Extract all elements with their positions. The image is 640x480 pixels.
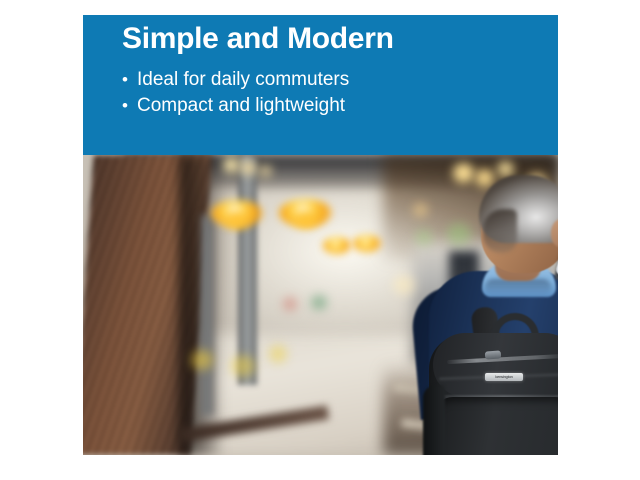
- backpack-top-panel: [433, 333, 558, 397]
- bullet-item: • Compact and lightweight: [122, 93, 349, 119]
- backpack-side-panel: [423, 385, 445, 455]
- bullet-label: Ideal for daily commuters: [134, 67, 349, 93]
- station-pole: [201, 215, 213, 415]
- bokeh-light: [191, 350, 213, 370]
- bullet-item: • Ideal for daily commuters: [122, 67, 349, 93]
- backpack-front-pocket: [433, 397, 558, 455]
- bullet-dot-icon: •: [122, 93, 134, 119]
- backpack-brand-logo: kensington: [485, 373, 523, 381]
- banner-title: Simple and Modern: [122, 20, 394, 58]
- person-figure: kensington: [233, 175, 513, 455]
- backpack-zipper-pull: [485, 350, 502, 359]
- product-feature-banner: Simple and Modern • Ideal for daily comm…: [0, 0, 640, 480]
- hair-temple: [483, 209, 517, 253]
- collar-shadow: [485, 279, 551, 295]
- bokeh-light: [223, 157, 240, 173]
- feature-bullet-list: • Ideal for daily commuters • Compact an…: [122, 67, 349, 119]
- lifestyle-photo: kensington: [83, 155, 558, 455]
- bullet-label: Compact and lightweight: [134, 93, 345, 119]
- bullet-dot-icon: •: [122, 67, 134, 93]
- bokeh-light: [241, 161, 256, 175]
- feature-banner: Simple and Modern • Ideal for daily comm…: [83, 15, 558, 155]
